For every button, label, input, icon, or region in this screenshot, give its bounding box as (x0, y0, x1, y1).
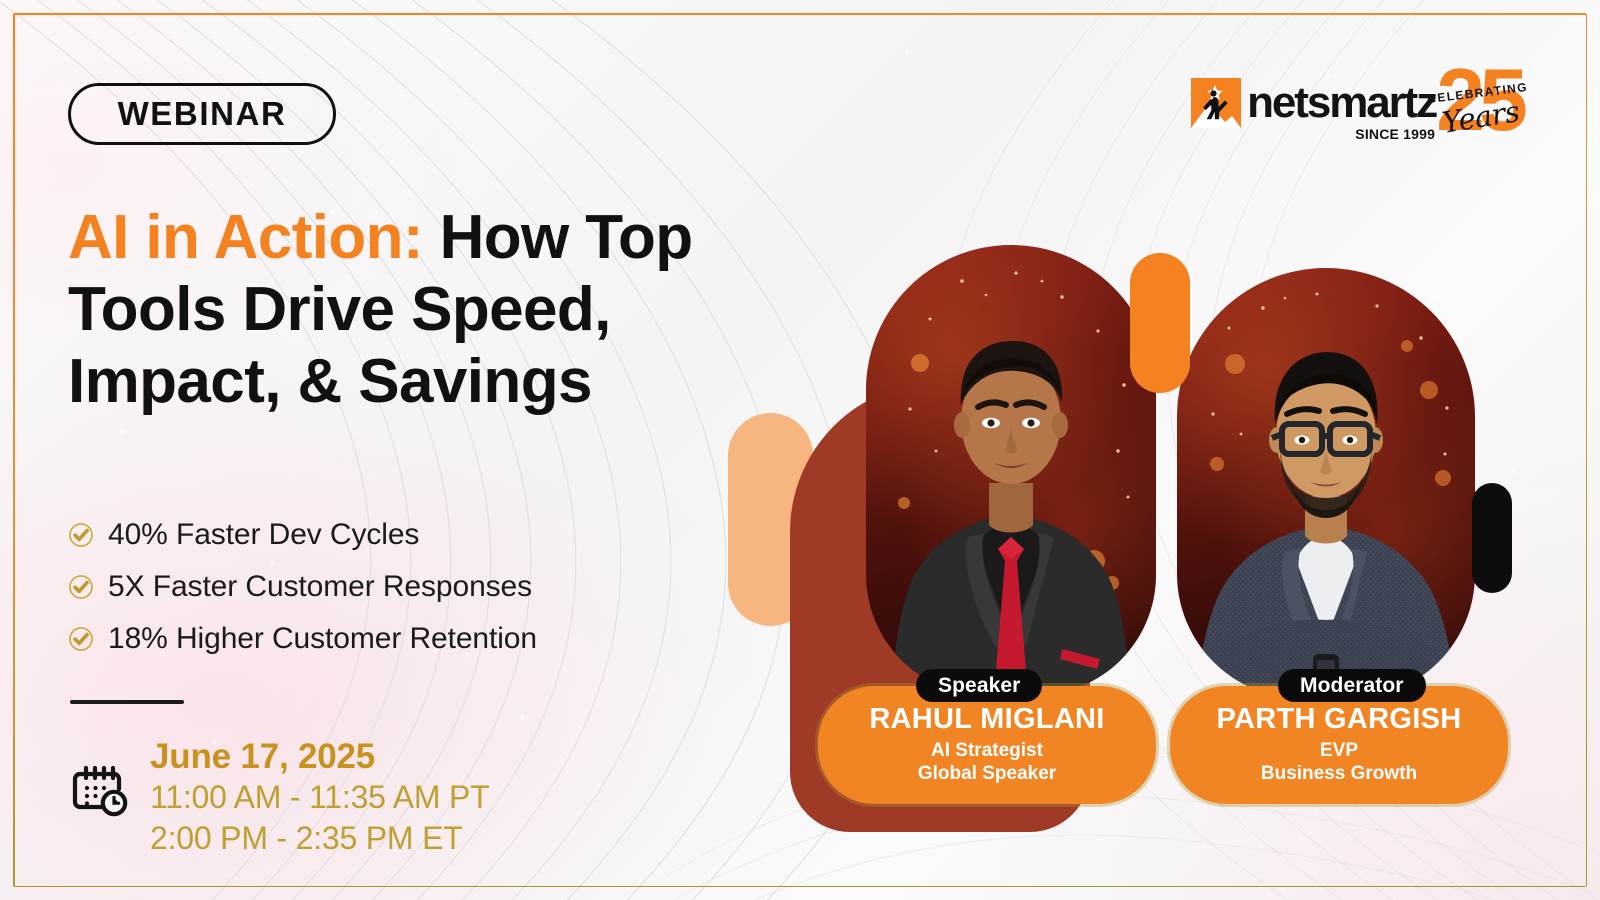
speaker-photo-parth-gargish (1177, 268, 1475, 698)
check-circle-icon (68, 574, 94, 600)
speaker-name: PARTH GARGISH (1216, 704, 1461, 736)
netsmartz-figure-icon (1191, 78, 1241, 128)
page-title: AI in Action: How Top Tools Drive Speed,… (68, 202, 708, 419)
list-item: 5X Faster Customer Responses (68, 566, 708, 608)
check-circle-icon (68, 626, 94, 652)
speaker-card-rahul-miglani: RAHUL MIGLANI AI Strategist Global Speak… (818, 686, 1156, 804)
role-badge-label: Speaker (938, 674, 1020, 698)
benefit-list: 40% Faster Dev Cycles 5X Faster Customer… (68, 514, 708, 670)
speaker-title-line2: Business Growth (1261, 762, 1417, 785)
sparkle-dot (905, 50, 909, 54)
list-item: 40% Faster Dev Cycles (68, 514, 708, 556)
list-item-label: 5X Faster Customer Responses (108, 570, 532, 604)
speaker-title-line1: EVP (1320, 739, 1358, 762)
list-item-label: 40% Faster Dev Cycles (108, 518, 419, 552)
speaker-title-line2: Global Speaker (918, 762, 1056, 785)
netsmartz-wordmark: netsmartz SINCE 1999 (1247, 81, 1436, 125)
speaker-name: RAHUL MIGLANI (869, 704, 1104, 736)
check-circle-icon (68, 522, 94, 548)
webinar-banner: WEBINAR AI in Action: How Top Tools Driv… (0, 0, 1600, 900)
decor-black-pill (1472, 483, 1512, 593)
anniversary-badge: 25 CELEBRATING Years (1436, 56, 1522, 144)
divider (70, 700, 184, 704)
calendar-clock-icon (68, 758, 132, 822)
netsmartz-logo[interactable]: netsmartz SINCE 1999 25 CELEBRATING Year… (1191, 62, 1522, 144)
webinar-badge-label: WEBINAR (118, 95, 287, 133)
role-badge-moderator: Moderator (1278, 669, 1426, 702)
speaker-photo-rahul-miglani (866, 245, 1156, 695)
webinar-badge: WEBINAR (68, 83, 336, 145)
role-badge-speaker: Speaker (916, 669, 1042, 702)
event-time-pt: 11:00 AM - 11:35 AM PT (150, 777, 489, 818)
sparkle-dot (1510, 470, 1515, 475)
role-badge-label: Moderator (1300, 674, 1404, 698)
list-item-label: 18% Higher Customer Retention (108, 622, 537, 656)
schedule-block: June 17, 2025 11:00 AM - 11:35 AM PT 2:0… (68, 736, 489, 859)
speaker-title-line1: AI Strategist (931, 739, 1043, 762)
decor-orange-pill (1130, 253, 1190, 393)
sparkle-dot (1430, 295, 1436, 301)
list-item: 18% Higher Customer Retention (68, 618, 708, 660)
left-content-column: WEBINAR AI in Action: How Top Tools Driv… (68, 0, 728, 900)
event-date: June 17, 2025 (150, 736, 489, 777)
speaker-card-parth-gargish: PARTH GARGISH EVP Business Growth (1170, 686, 1508, 804)
since-text: SINCE 1999 (1355, 126, 1435, 142)
event-time-et: 2:00 PM - 2:35 PM ET (150, 818, 489, 859)
wordmark-text: netsmartz (1247, 81, 1436, 125)
headline-accent: AI in Action: (68, 203, 423, 272)
